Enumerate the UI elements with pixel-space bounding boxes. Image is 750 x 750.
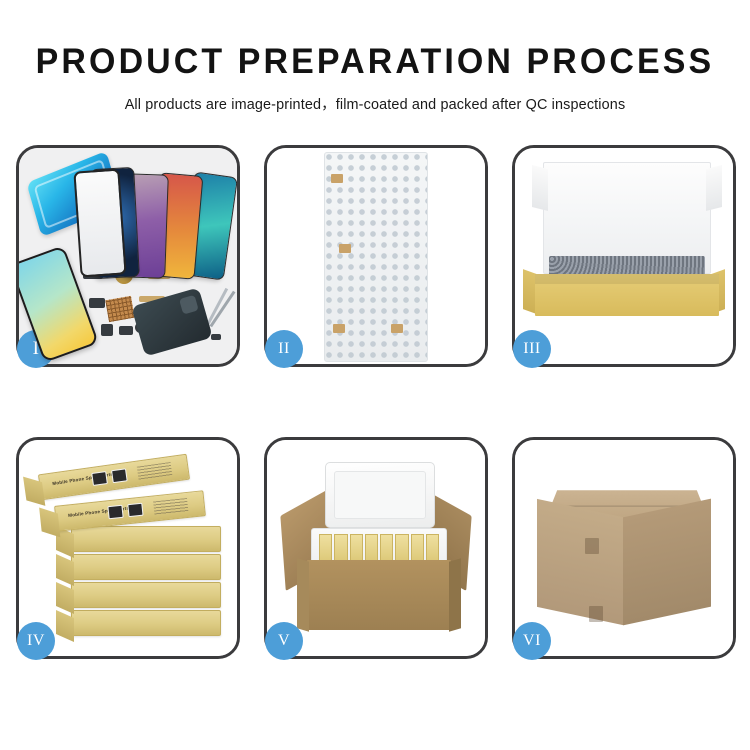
step-2-image	[267, 148, 485, 364]
tape-icon	[331, 174, 343, 183]
step-panel-5: V	[264, 437, 488, 659]
copper-mesh-part-icon	[105, 296, 134, 322]
box-item	[71, 526, 221, 552]
screen-thumbnail-icon	[91, 471, 108, 486]
step-panel-4: Mobile Phone Spare Parts Mobile Phone Sp…	[16, 437, 240, 659]
box-stack: Mobile Phone Spare Parts Mobile Phone Sp…	[25, 454, 237, 650]
step-1-image	[19, 148, 237, 364]
step-panel-2: II	[264, 145, 488, 367]
box-side	[56, 610, 74, 642]
step-badge-5: V	[265, 622, 303, 660]
step-badge-4: IV	[17, 622, 55, 660]
component-icon	[89, 298, 105, 308]
box-label: Mobile Phone Spare Parts	[67, 496, 188, 526]
box-side	[56, 582, 74, 614]
carton-body-icon	[307, 560, 451, 630]
step-panel-3: III	[512, 145, 736, 367]
step-badge-3: III	[513, 330, 551, 368]
process-steps-grid: I II III	[16, 145, 736, 681]
box-item	[71, 610, 221, 636]
step-panel-6: VI	[512, 437, 736, 659]
component-icon	[119, 326, 133, 335]
tape-icon	[391, 324, 403, 333]
carton-front-face-icon	[537, 499, 623, 625]
header: PRODUCT PREPARATION PROCESS All products…	[0, 0, 750, 114]
step-panel-1: I	[16, 145, 240, 367]
carton-side-face-icon	[623, 499, 711, 626]
screen-thumbnail-icon	[111, 468, 128, 483]
step-badge-2: II	[265, 330, 303, 368]
step-5-image	[267, 440, 485, 656]
component-icon	[101, 324, 113, 336]
carton-tab-icon	[585, 538, 599, 554]
box-side	[56, 554, 74, 586]
product-preparation-infographic: PRODUCT PREPARATION PROCESS All products…	[0, 0, 750, 750]
page-title: PRODUCT PREPARATION PROCESS	[11, 42, 739, 82]
component-icon	[211, 334, 221, 340]
foam-lid-icon	[325, 462, 435, 528]
screen-thumbnail-icon	[107, 505, 123, 519]
step-6-image	[515, 440, 733, 656]
label-text-lines	[137, 462, 173, 481]
tape-icon	[333, 324, 345, 333]
box-label: Mobile Phone Spare Parts	[51, 460, 172, 495]
screen-thumbnail-icon	[127, 503, 143, 517]
screen-protector-icon	[73, 169, 126, 278]
box-side	[23, 477, 45, 506]
step-4-image: Mobile Phone Spare Parts Mobile Phone Sp…	[19, 440, 237, 656]
tape-icon	[339, 244, 351, 253]
phone-lineup	[89, 156, 237, 278]
box-item	[71, 554, 221, 580]
box-side	[39, 507, 60, 537]
kraft-box-base-icon	[535, 274, 719, 316]
label-text-lines	[153, 498, 188, 515]
box-item	[71, 582, 221, 608]
carton-tab-icon	[589, 606, 603, 622]
step-3-image	[515, 148, 733, 364]
page-subtitle: All products are image-printed，film-coat…	[0, 93, 750, 114]
step-badge-6: VI	[513, 622, 551, 660]
